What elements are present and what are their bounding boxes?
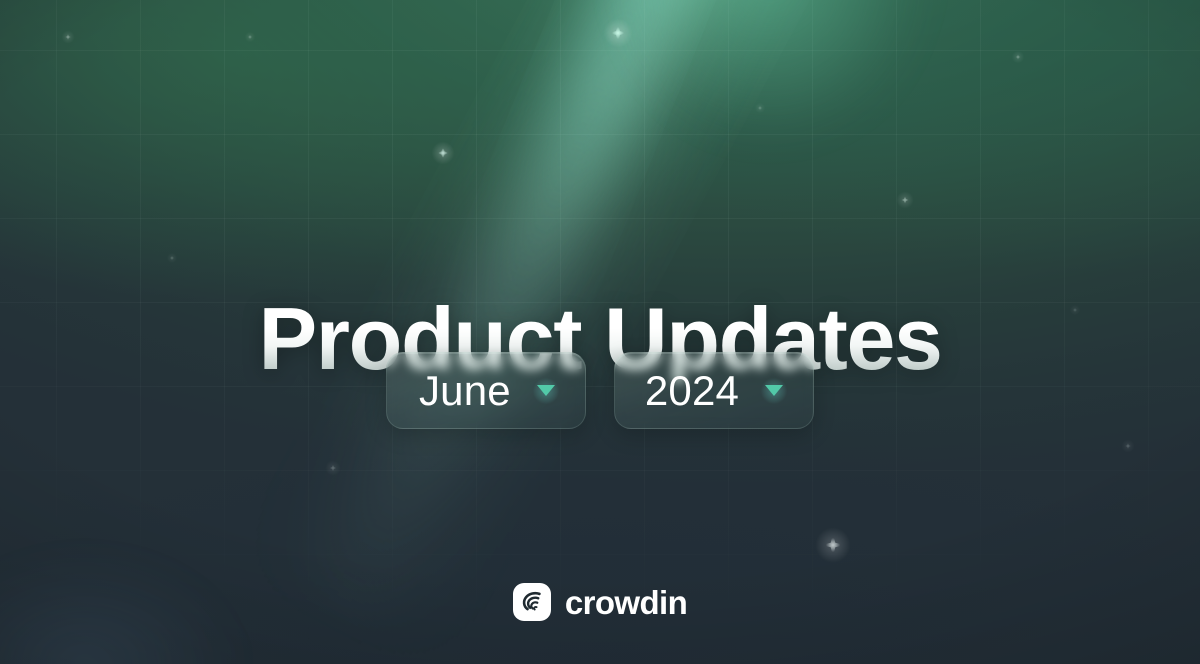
crowdin-logo-icon <box>513 583 551 621</box>
chevron-down-icon[interactable] <box>529 374 563 408</box>
month-selector-label: June <box>419 370 511 412</box>
product-updates-hero-banner: Product Updates June 2024 <box>0 0 1200 664</box>
month-selector[interactable]: June <box>386 352 586 429</box>
brand-logo: crowdin <box>0 583 1200 621</box>
year-selector[interactable]: 2024 <box>614 352 814 429</box>
date-selector-group: June 2024 <box>0 352 1200 429</box>
brand-name: crowdin <box>565 586 687 619</box>
chevron-down-icon[interactable] <box>757 374 791 408</box>
year-selector-label: 2024 <box>645 370 739 412</box>
hero-content: Product Updates June 2024 <box>0 0 1200 664</box>
